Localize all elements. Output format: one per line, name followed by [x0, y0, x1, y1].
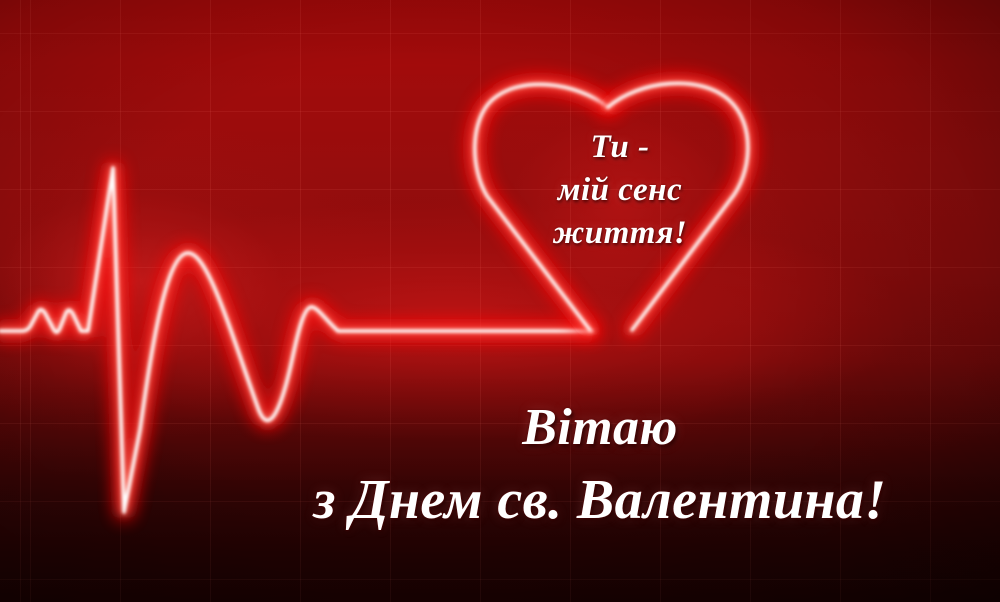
heart-left-core: [475, 84, 608, 330]
heart-right-core: [608, 83, 748, 330]
neon-heart-outline: [475, 83, 748, 330]
valentine-card: Ти - мій сенс життя! Вітаю з Днем св. Ва…: [0, 0, 1000, 602]
neon-artwork: [0, 0, 1000, 602]
